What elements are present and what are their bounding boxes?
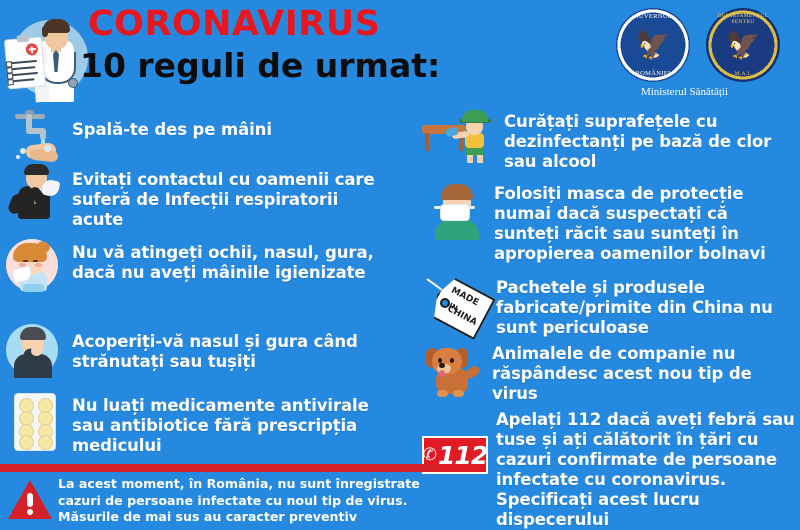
rule-item-7: Folosiți masca de protecție numai dacă s… (426, 182, 782, 264)
coronavirus-infographic-poster: CORONAVIRUS 10 reguli de urmat: GUVERNUL… (0, 0, 800, 529)
made-in-china-tag-icon: MADE IN CHINA (424, 276, 490, 336)
footer-divider (0, 464, 438, 472)
rule-item-5: Nu luați medicamente antivirale sau anti… (8, 390, 392, 456)
seal-text-center: M.A.I. (706, 71, 780, 77)
rule-text-8: Pachetele și produsele fabricate/primite… (490, 276, 792, 338)
footer-line-1: La acest moment, în România, nu sunt înr… (58, 476, 430, 493)
footer-note: La acest moment, în România, nu sunt înr… (58, 476, 430, 526)
rule-item-10: ✆ 112 Apelați 112 dacă aveți febră sau t… (418, 410, 796, 530)
rule-text-2: Evitați contactul cu oamenii care suferă… (64, 164, 387, 230)
rule-item-8: MADE IN CHINA Pachetele și produsele fab… (424, 276, 792, 338)
rule-item-4: Acoperiți-vă nasul și gura când strănuta… (4, 322, 392, 378)
rules-column-right: Curățați suprafețele cu dezinfectanți pe… (418, 104, 800, 464)
rule-item-1: Spală-te des pe mâini (4, 112, 372, 162)
rule-text-9: Animalele de companie nu răspândesc aces… (486, 340, 788, 404)
footer-line-2: cazuri de persoane infectate cu noul tip… (58, 493, 430, 510)
rule-item-2: Evitați contactul cu oamenii care suferă… (6, 164, 387, 230)
person-wearing-mask-icon (426, 182, 488, 240)
poster-header: CORONAVIRUS 10 reguli de urmat: GUVERNUL… (0, 0, 800, 104)
rule-item-9: Animalele de companie nu răspândesc aces… (424, 340, 788, 404)
rule-text-10: Apelați 112 dacă aveți febră sau tuse și… (488, 410, 796, 530)
rule-text-3: Nu vă atingeți ochii, nasul, gura, dacă … (62, 237, 387, 283)
rule-text-4: Acoperiți-vă nasul și gura când strănuta… (62, 322, 392, 372)
page-subtitle: 10 reguli de urmat: (80, 46, 440, 86)
person-covering-mouth-icon (4, 322, 62, 378)
government-seals: GUVERNUL 🦅 ROMÂNIEI DEPARTAMENTUL PENTRU… (602, 4, 792, 104)
guvernul-romaniei-seal: GUVERNUL 🦅 ROMÂNIEI (616, 8, 690, 82)
boy-sneezing-icon (4, 237, 62, 293)
rule-item-6: Curățați suprafețele cu dezinfectanți pe… (422, 108, 796, 172)
seal-text-top: DEPARTAMENTUL PENTRU (706, 13, 780, 25)
rule-text-7: Folosiți masca de protecție numai dacă s… (488, 182, 782, 264)
poster-footer: La acest moment, în România, nu sunt înr… (0, 476, 438, 529)
man-coughing-tissue-icon (6, 164, 64, 220)
page-title: CORONAVIRUS (88, 4, 380, 44)
rules-column-left: Spală-te des pe mâini Evitați contactul … (0, 104, 400, 464)
eagle-emblem-gold-icon: 🦅 (726, 31, 761, 59)
eagle-emblem-icon: 🦅 (636, 31, 671, 59)
emergency-number: 112 (438, 441, 487, 470)
child-cleaning-table-icon (422, 108, 494, 164)
rule-text-5: Nu luați medicamente antivirale sau anti… (66, 390, 392, 456)
rule-item-3: Nu vă atingeți ochii, nasul, gura, dacă … (4, 237, 387, 293)
ministry-label: Ministerul Sănătății (602, 86, 767, 98)
footer-line-3: Măsurile de mai sus au caracter preventi… (58, 509, 430, 526)
pill-blister-pack-icon (8, 390, 66, 452)
departamentul-situatii-urgenta-seal: DEPARTAMENTUL PENTRU 🦅 M.A.I. (706, 8, 780, 82)
rule-text-1: Spală-te des pe mâini (62, 112, 372, 140)
seal-text-top: GUVERNUL (616, 13, 690, 20)
faucet-handwashing-icon (4, 112, 62, 162)
rule-text-6: Curățați suprafețele cu dezinfectanți pe… (494, 108, 796, 172)
phone-handset-icon: ✆ (423, 445, 437, 465)
warning-triangle-icon (8, 480, 52, 520)
dog-pet-icon (424, 340, 486, 398)
seal-text-bottom: ROMÂNIEI (616, 70, 690, 77)
